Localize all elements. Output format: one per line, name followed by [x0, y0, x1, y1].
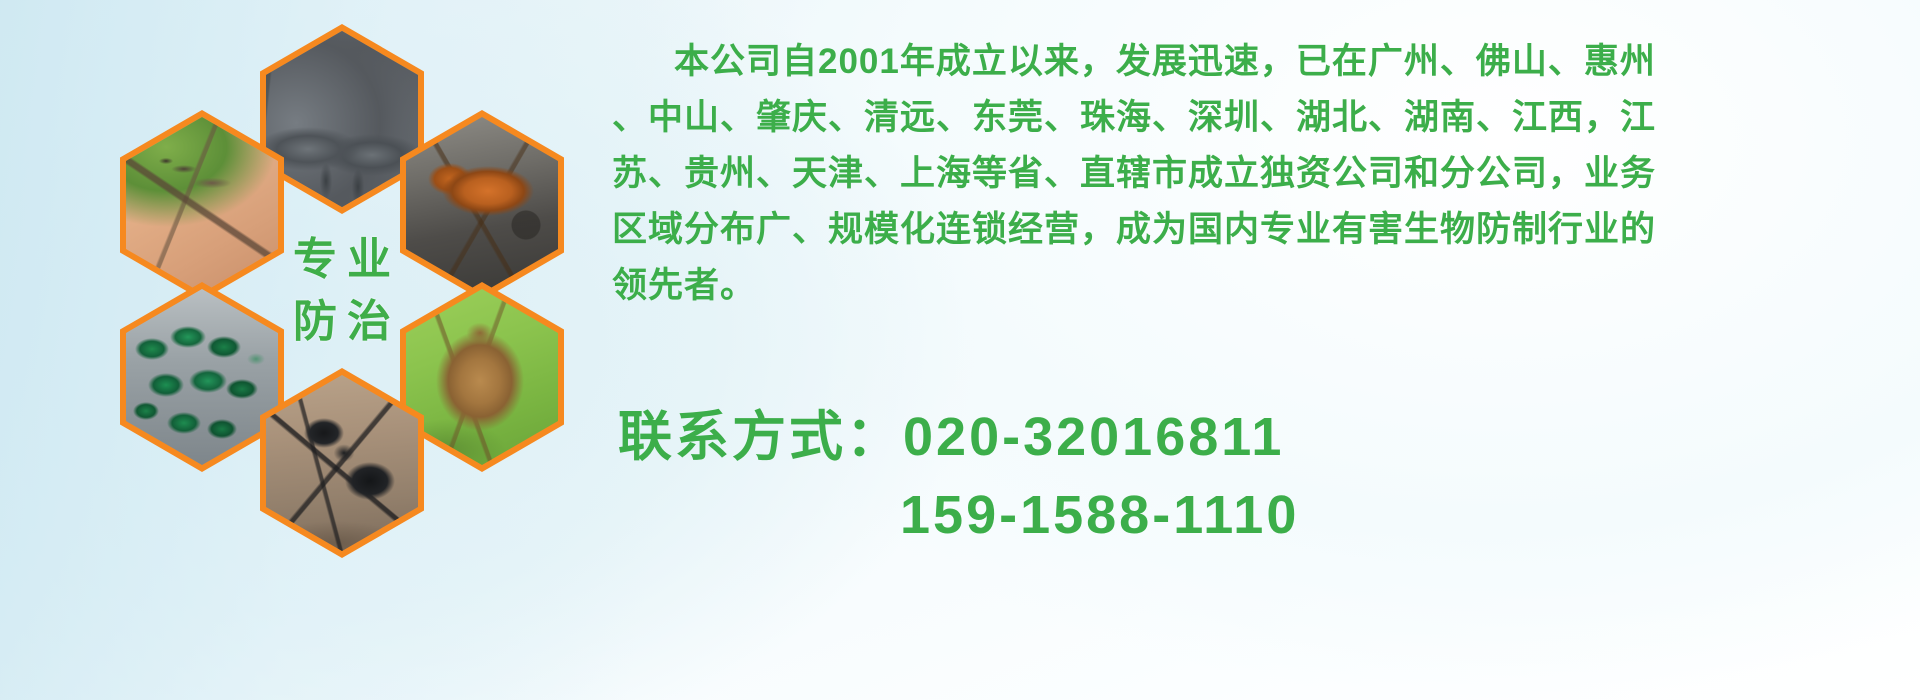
contact-block: 联系方式：020-32016811 159-1588-1110	[618, 398, 1878, 554]
contact-primary-line: 联系方式：020-32016811	[618, 398, 1878, 476]
center-badge: 专业 防治	[260, 196, 424, 386]
description-line-3: 苏、贵州、天津、上海等省、直辖市成立独资公司和分公司，业务	[612, 146, 1862, 202]
cockroach-photo	[406, 117, 558, 293]
hex-flies-frame	[126, 289, 278, 465]
hex-image-cluster: 专业 防治	[92, 10, 592, 570]
contact-label: 联系方式：	[618, 407, 903, 467]
rats-photo	[266, 31, 418, 207]
hex-image-cockroach[interactable]	[400, 110, 564, 300]
description-line-4: 区域分布广、规模化连锁经营，成为国内专业有害生物防制行业的	[612, 202, 1862, 258]
promo-banner: 专业 防治 本公司自2001年成立以来，发展迅速，已在广州、佛山、惠州 、中山、…	[0, 0, 1920, 700]
description-line-2: 、中山、肇庆、清远、东莞、珠海、深圳、湖北、湖南、江西，江	[612, 90, 1862, 146]
description-line-5: 领先者。	[612, 258, 1862, 314]
hex-image-stinkbug[interactable]	[400, 282, 564, 472]
hex-cockroach-frame	[406, 117, 558, 293]
stinkbug-photo	[406, 289, 558, 465]
mosquito-photo	[126, 117, 278, 293]
ant-photo	[266, 375, 418, 551]
hex-stinkbug-frame	[406, 289, 558, 465]
badge-line-1: 专业	[283, 238, 401, 282]
company-description: 本公司自2001年成立以来，发展迅速，已在广州、佛山、惠州 、中山、肇庆、清远、…	[612, 34, 1862, 314]
hex-image-ant[interactable]	[260, 368, 424, 558]
hex-rats-frame	[266, 31, 418, 207]
hex-image-rats[interactable]	[260, 24, 424, 214]
phone-primary[interactable]: 020-32016811	[903, 407, 1284, 467]
hex-mosquito-frame	[126, 117, 278, 293]
hex-ant-frame	[266, 375, 418, 551]
badge-line-2: 防治	[283, 300, 401, 344]
flies-photo	[126, 289, 278, 465]
description-line-1: 本公司自2001年成立以来，发展迅速，已在广州、佛山、惠州	[612, 34, 1862, 90]
phone-secondary[interactable]: 159-1588-1110	[618, 476, 1878, 554]
